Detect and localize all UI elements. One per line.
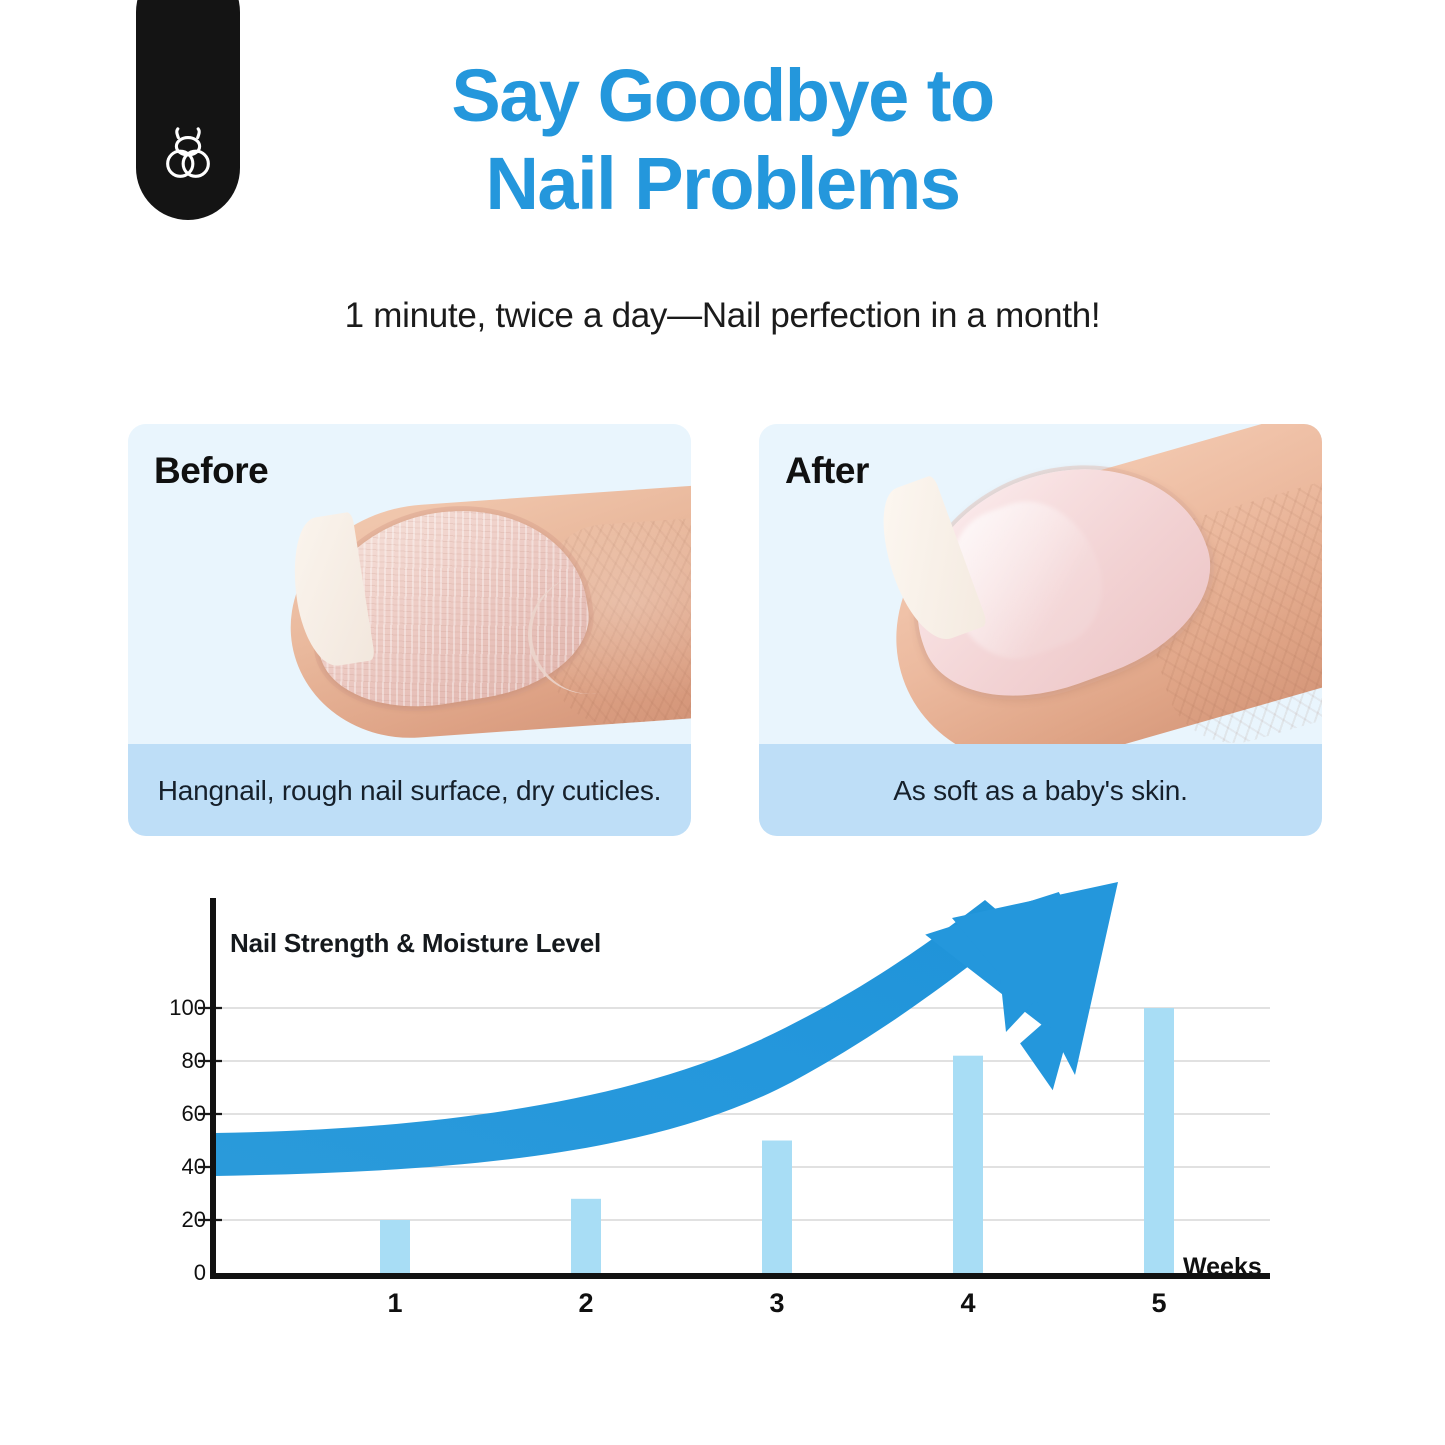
chart-bar — [953, 1056, 983, 1273]
chart-bar — [1144, 1008, 1174, 1273]
headline-line-2: Nail Problems — [0, 140, 1445, 228]
subtitle: 1 minute, twice a day—Nail perfection in… — [0, 294, 1445, 338]
chart-gridlines — [213, 1008, 1270, 1220]
after-card: After As soft as a baby's skin. — [759, 424, 1322, 836]
chart-bar — [380, 1220, 410, 1273]
before-card: Before Hangnail, rough nail surface, dry… — [128, 424, 691, 836]
headline-line-1: Say Goodbye to — [0, 52, 1445, 140]
chart-bar — [762, 1141, 792, 1274]
after-card-label: After — [785, 450, 869, 492]
chart-plot — [0, 880, 1445, 1340]
chart-bar — [571, 1199, 601, 1273]
page-title: Say Goodbye to Nail Problems — [0, 52, 1445, 228]
before-card-caption: Hangnail, rough nail surface, dry cuticl… — [128, 744, 691, 836]
growth-chart: Nail Strength & Moisture Level Weeks 020… — [0, 880, 1445, 1340]
before-card-label: Before — [154, 450, 268, 492]
after-card-caption: As soft as a baby's skin. — [759, 744, 1322, 836]
comparison-cards: Before Hangnail, rough nail surface, dry… — [128, 424, 1322, 836]
